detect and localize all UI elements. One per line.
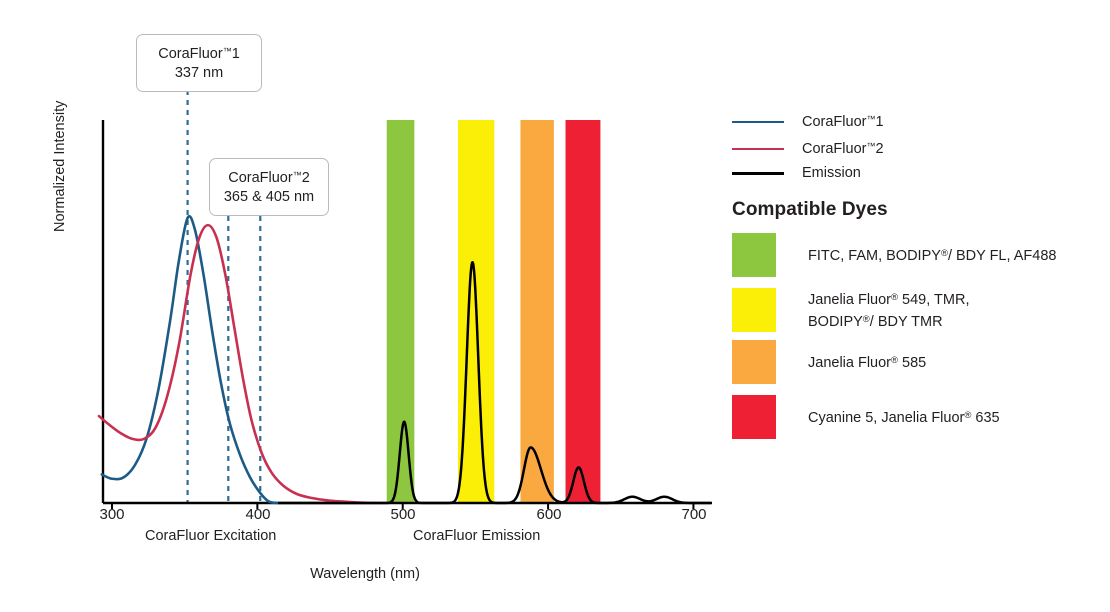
xtick-label-300: 300 [82, 506, 142, 523]
legend-line-emission [732, 172, 784, 175]
xtick-label-500: 500 [373, 506, 433, 523]
dye-label-orange: Janelia Fluor® 585 [808, 351, 926, 373]
legend-label-emission: Emission [802, 165, 861, 181]
y-axis-label: Normalized Intensity [52, 72, 68, 232]
orange-band [520, 120, 553, 503]
dye-label-red: Cyanine 5, Janelia Fluor® 635 [808, 406, 1000, 428]
callout-corafluor2-title: CoraFluor™2 [228, 170, 310, 186]
callout-corafluor1: CoraFluor™1 337 nm [136, 34, 262, 92]
callout-corafluor1-value: 337 nm [149, 64, 249, 83]
legend-line-corafluor2 [732, 148, 784, 150]
xtick-label-700: 700 [664, 506, 724, 523]
dye-row-red: Cyanine 5, Janelia Fluor® 635 [732, 395, 1000, 439]
legend-item-corafluor1: CoraFluor™1 [732, 113, 884, 131]
dye-swatch-yellow [732, 288, 776, 332]
dye-swatch-orange [732, 340, 776, 384]
legend-panel: CoraFluor™1 CoraFluor™2 Emission Compati… [730, 0, 1110, 612]
xtick-label-600: 600 [519, 506, 579, 523]
dye-label-yellow: Janelia Fluor® 549, TMR,BODIPY®/ BDY TMR [808, 288, 969, 332]
section-caption-excitation: CoraFluor Excitation [145, 528, 276, 544]
x-axis-label: Wavelength (nm) [0, 566, 730, 582]
legend-item-corafluor2: CoraFluor™2 [732, 140, 884, 158]
callout-corafluor2-value: 365 & 405 nm [222, 188, 316, 207]
curve-corafluor1 [102, 216, 279, 503]
red-band [566, 120, 601, 503]
curve-corafluor2 [99, 225, 374, 503]
dye-row-orange: Janelia Fluor® 585 [732, 340, 926, 384]
legend-label-corafluor2: CoraFluor™2 [802, 141, 884, 157]
xtick-label-400: 400 [228, 506, 288, 523]
callout-corafluor1-title: CoraFluor™1 [158, 46, 240, 62]
dye-row-yellow: Janelia Fluor® 549, TMR,BODIPY®/ BDY TMR [732, 288, 969, 332]
legend-line-corafluor1 [732, 121, 784, 123]
dye-swatch-green [732, 233, 776, 277]
legend-label-corafluor1: CoraFluor™1 [802, 114, 884, 130]
legend-item-emission: Emission [732, 164, 861, 182]
callout-corafluor2: CoraFluor™2 365 & 405 nm [209, 158, 329, 216]
chart-figure: 300 400 500 600 700 CoraFluor Excitation… [0, 0, 1110, 612]
dye-label-green: FITC, FAM, BODIPY®/ BDY FL, AF488 [808, 244, 1056, 266]
curve-emission [279, 262, 710, 503]
plot-area: 300 400 500 600 700 CoraFluor Excitation… [0, 0, 730, 612]
section-caption-emission: CoraFluor Emission [413, 528, 540, 544]
dye-row-green: FITC, FAM, BODIPY®/ BDY FL, AF488 [732, 233, 1056, 277]
dye-swatch-red [732, 395, 776, 439]
compatible-dyes-title: Compatible Dyes [732, 199, 888, 221]
